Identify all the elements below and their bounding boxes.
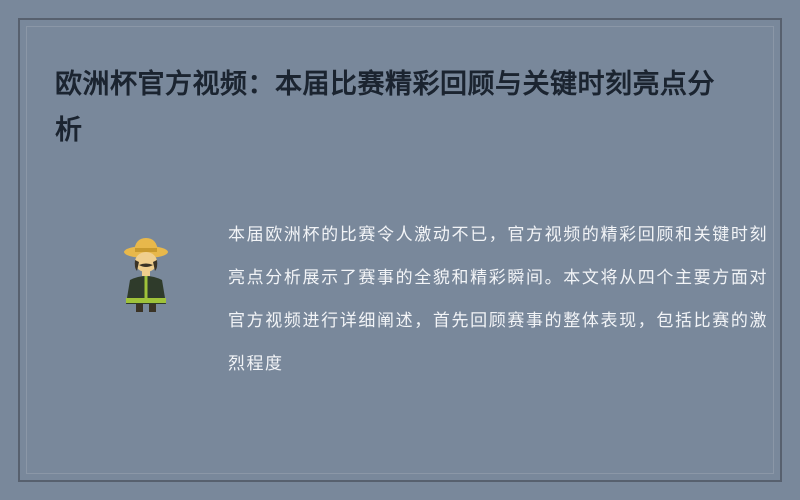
page-title: 欧洲杯官方视频：本届比赛精彩回顾与关键时刻亮点分析 bbox=[55, 62, 715, 154]
person-with-hat-illustration bbox=[110, 232, 182, 312]
article-body: 本届欧洲杯的比赛令人激动不已，官方视频的精彩回顾和关键时刻亮点分析展示了赛事的全… bbox=[228, 214, 768, 386]
document-page: 欧洲杯官方视频：本届比赛精彩回顾与关键时刻亮点分析 bbox=[0, 0, 800, 500]
